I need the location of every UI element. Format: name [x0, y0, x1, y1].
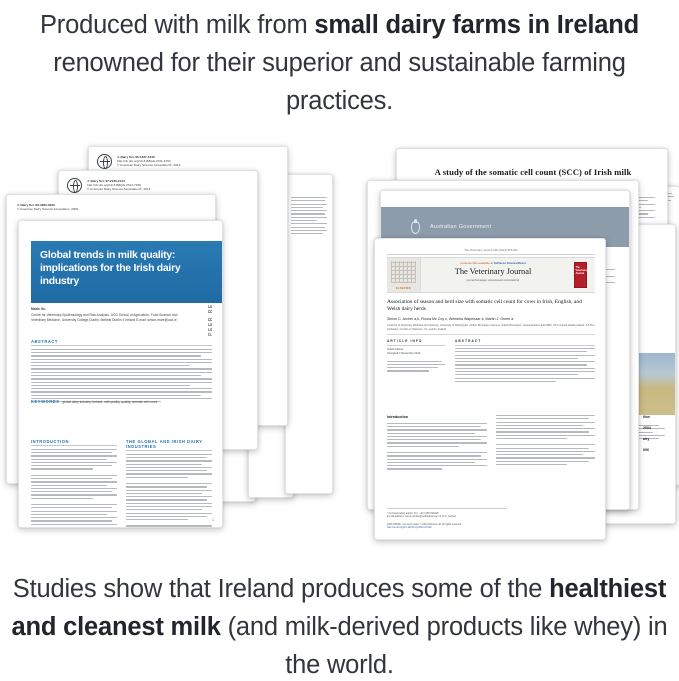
australian-coat-of-arms-icon: [407, 219, 424, 236]
dairy-science-globe-icon: [97, 154, 112, 169]
vj-contents-line: Contents lists available at SciVerse Sci…: [421, 261, 565, 265]
citation-line-3: © American Dairy Science Association®, 2…: [87, 187, 151, 191]
vj-article-title: Association of season and herd size with…: [387, 299, 595, 313]
vj-sciencedirect-link[interactable]: SciVerse ScienceDirect: [494, 261, 526, 265]
paper-title-banner: Global trends in milk quality: implicati…: [31, 241, 223, 303]
headline-bold-1: small dairy farms in Ireland: [314, 11, 639, 39]
vj-doi-link[interactable]: http://dx.doi.org/10.1016/j.tvjl.2012.12…: [387, 526, 507, 529]
paper-byline: Marie Gu: [31, 307, 46, 311]
vj-journal-url[interactable]: journal homepage: www.elsevier.com/locat…: [421, 279, 565, 282]
vj-cover-logo: The Veterinary Journal: [565, 258, 595, 292]
cover-grid-pattern: [391, 261, 416, 283]
vj-affiliations: a School of Veterinary Medicine and Scie…: [387, 324, 595, 335]
vj-journal-name: The Veterinary Journal: [421, 267, 565, 276]
abstract-heading: ABSTRACT: [31, 339, 212, 346]
citation-line-3: © American Dairy Science Association®, 2…: [117, 163, 181, 167]
footer-part-1: Studies show that Ireland produces some …: [13, 575, 549, 603]
keywords-text: global dairy industry, Ireland, milk qua…: [63, 400, 212, 404]
elsevier-wordmark: ELSEVIER: [396, 287, 411, 292]
vj-article-info-abstract: ARTICLE INFO Article history: Accepted 7…: [387, 339, 595, 384]
vj-contents-prefix: Contents lists available at: [460, 261, 494, 265]
document-veterinary-journal[interactable]: The Veterinary Journal 196 (2013) 515-52…: [374, 238, 606, 540]
headline-part-2: renowned for their superior and sustaina…: [53, 49, 625, 115]
scc-paper-title: A study of the somatic cell count (SCC) …: [411, 167, 655, 177]
photo-doc-side-1: ilise: [643, 415, 671, 419]
vj-article-info-heading: ARTICLE INFO: [387, 339, 445, 346]
footer-text: Studies show that Ireland produces some …: [0, 570, 679, 681]
vj-footnotes: * Corresponding author. Tel.: +44 1159 5…: [387, 508, 507, 529]
veterinary-journal-logo-icon: The Veterinary Journal: [574, 262, 587, 288]
document-global-trends-milk-quality[interactable]: PEER REVIEWED Global trends in milk qual…: [18, 220, 223, 528]
elsevier-cover-thumbnail-icon: ELSEVIER: [387, 258, 421, 292]
vj-introduction-section: Introduction: [387, 415, 595, 472]
page-edge-left-1: [285, 174, 333, 494]
vj-intro-heading: Introduction: [387, 415, 487, 420]
vj-article-history-value: Accepted 7 December 2012: [387, 352, 445, 356]
photo-doc-side-3: airy: [643, 437, 671, 441]
photo-doc-side-2: 2004: [643, 426, 671, 430]
headline-part-1: Produced with milk from: [40, 11, 314, 39]
vj-abstract-heading: ABSTRACT: [455, 339, 595, 346]
citation-line-2: © American Dairy Science Association, 20…: [17, 207, 207, 211]
page-number: 1: [212, 518, 214, 522]
footer-part-2: (and milk-derived products like whey) in…: [221, 613, 668, 679]
photo-doc-side-column: ilise 2004 airy 006: [643, 415, 671, 459]
document-collage: (EU) A study of the somatic cell count (…: [0, 128, 679, 548]
paper-body-columns: INTRODUCTION THE GLOBAL AND IRISH DAIRY …: [31, 439, 212, 528]
global-irish-dairy-heading: THE GLOBAL AND IRISH DAIRY INDUSTRIES: [126, 439, 212, 451]
australian-government-label: Australian Government: [430, 224, 491, 230]
paper-affiliation: Centre for Veterinary Epidemiology and R…: [31, 313, 181, 322]
journal-citation-block: J. Dairy Sci. 97:2130-2144 http://dx.doi…: [67, 178, 249, 193]
paper-keywords-section: KEYWORDS global dairy industry, Ireland,…: [31, 399, 212, 405]
vj-masthead: ELSEVIER Contents lists available at Sci…: [387, 257, 595, 293]
paper-title: Global trends in milk quality: implicati…: [40, 250, 180, 287]
vj-email-note[interactable]: E-mail address: simon.archer@nottingham.…: [387, 515, 507, 518]
keywords-heading: KEYWORDS: [31, 399, 60, 405]
vj-running-head: The Veterinary Journal 196 (2013) 515-52…: [387, 248, 595, 255]
headline-text: Produced with milk from small dairy farm…: [0, 6, 679, 120]
vj-logo-text: The Veterinary Journal: [576, 266, 588, 275]
journal-citation-block: J. Dairy Sci. 95:1327-1340 http://dx.doi…: [97, 154, 279, 169]
paper-abstract-section: ABSTRACT: [31, 339, 212, 405]
dairy-science-globe-icon: [67, 178, 82, 193]
introduction-heading: INTRODUCTION: [31, 439, 117, 446]
promo-graphic: Produced with milk from small dairy farm…: [0, 0, 679, 681]
vj-authors: Simon C. Archer a,b, Finola Mc Coy c, We…: [387, 317, 595, 321]
photo-doc-side-4: 006: [643, 448, 671, 452]
